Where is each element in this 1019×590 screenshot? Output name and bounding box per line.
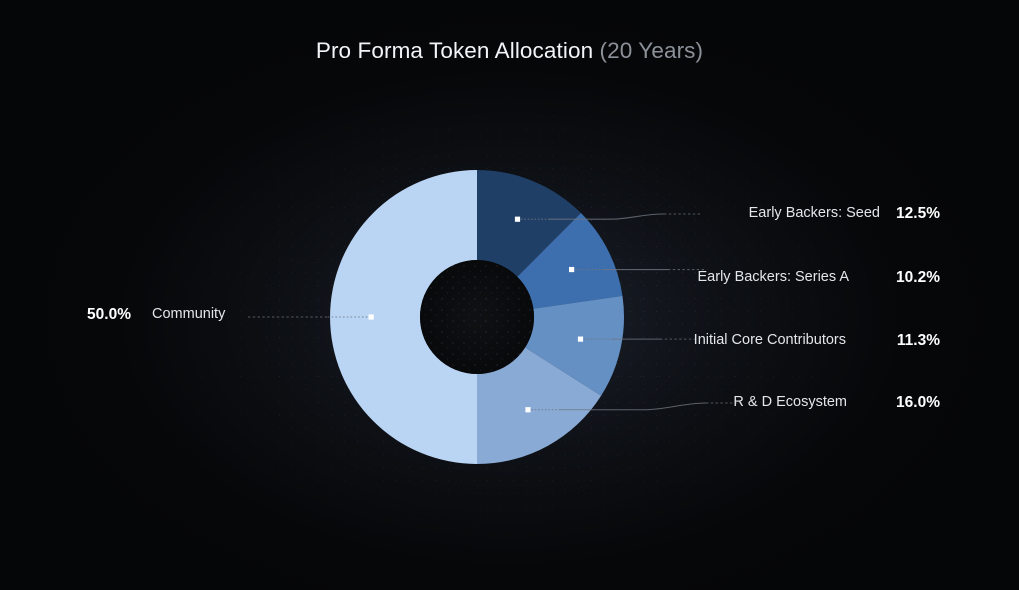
donut-chart: [0, 0, 1019, 590]
slice-value-community: 50.0%: [0, 307, 131, 323]
leader-anchor-marker: [369, 314, 374, 319]
slice-label-community: Community: [152, 307, 225, 322]
slice-value-rd-ecosystem: 16.0%: [0, 395, 940, 411]
slice-value-early-backers-series-a: 10.2%: [0, 270, 940, 286]
slice-value-early-backers-seed: 12.5%: [0, 206, 940, 222]
slice-value-initial-core-contributors: 11.3%: [0, 333, 940, 349]
